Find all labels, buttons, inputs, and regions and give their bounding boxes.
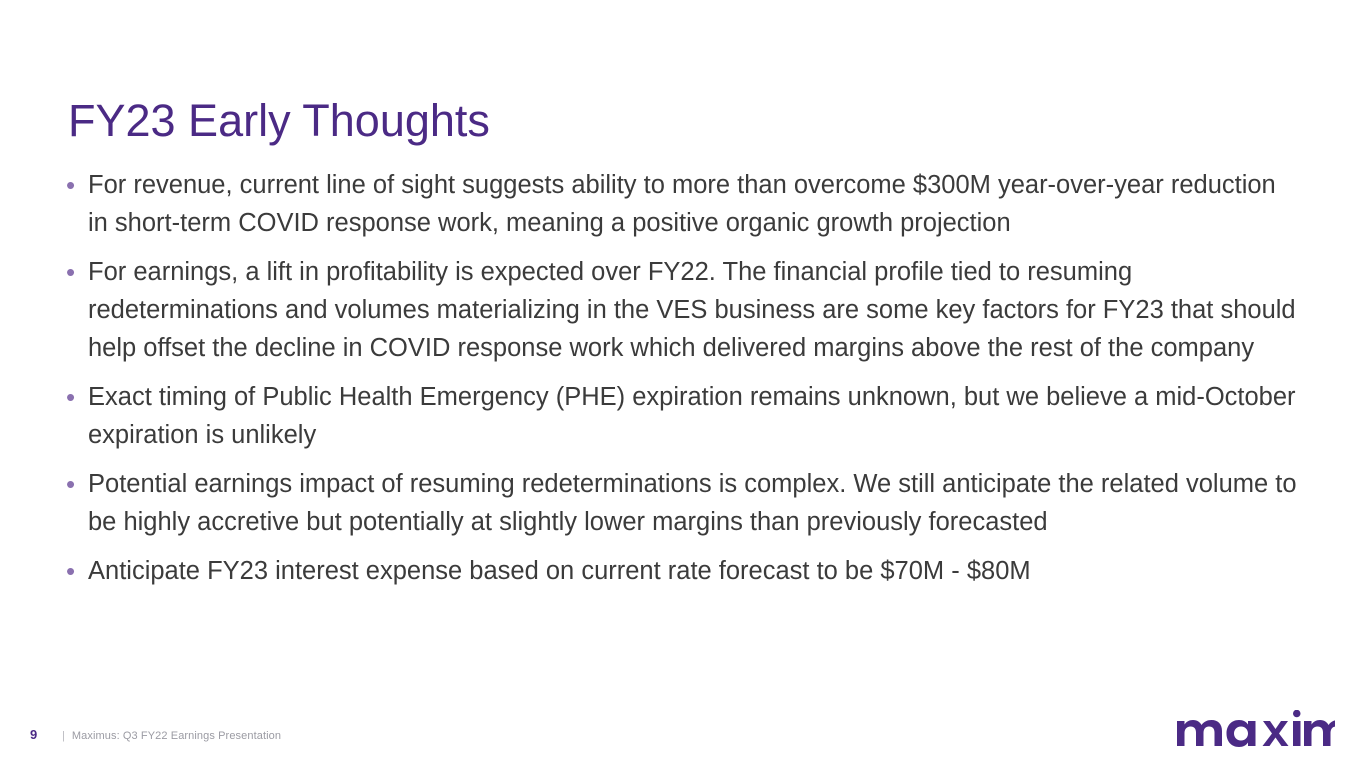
slide: FY23 Early Thoughts • For revenue, curre… [0, 0, 1365, 768]
footer-divider: | [40, 729, 72, 744]
page-title: FY23 Early Thoughts [68, 93, 490, 149]
bullet-dot-icon: • [62, 465, 88, 503]
maximus-logo [1175, 710, 1335, 750]
list-item: • Anticipate FY23 interest expense based… [62, 552, 1302, 590]
list-item: • For revenue, current line of sight sug… [62, 166, 1302, 242]
list-item: • Exact timing of Public Health Emergenc… [62, 378, 1302, 454]
bullet-dot-icon: • [62, 378, 88, 416]
bullet-dot-icon: • [62, 253, 88, 291]
bullet-dot-icon: • [62, 166, 88, 204]
list-item-text: Exact timing of Public Health Emergency … [88, 378, 1302, 454]
list-item-text: Potential earnings impact of resuming re… [88, 465, 1302, 541]
bullet-dot-icon: • [62, 552, 88, 590]
footer-caption: Maximus: Q3 FY22 Earnings Presentation [72, 729, 281, 744]
list-item: • Potential earnings impact of resuming … [62, 465, 1302, 541]
list-item-text: Anticipate FY23 interest expense based o… [88, 552, 1302, 590]
list-item-text: For revenue, current line of sight sugge… [88, 166, 1302, 242]
bullet-list: • For revenue, current line of sight sug… [62, 166, 1302, 590]
page-number: 9 [30, 727, 40, 742]
list-item-text: For earnings, a lift in profitability is… [88, 253, 1302, 367]
slide-footer: 9 | Maximus: Q3 FY22 Earnings Presentati… [30, 727, 281, 744]
list-item: • For earnings, a lift in profitability … [62, 253, 1302, 367]
